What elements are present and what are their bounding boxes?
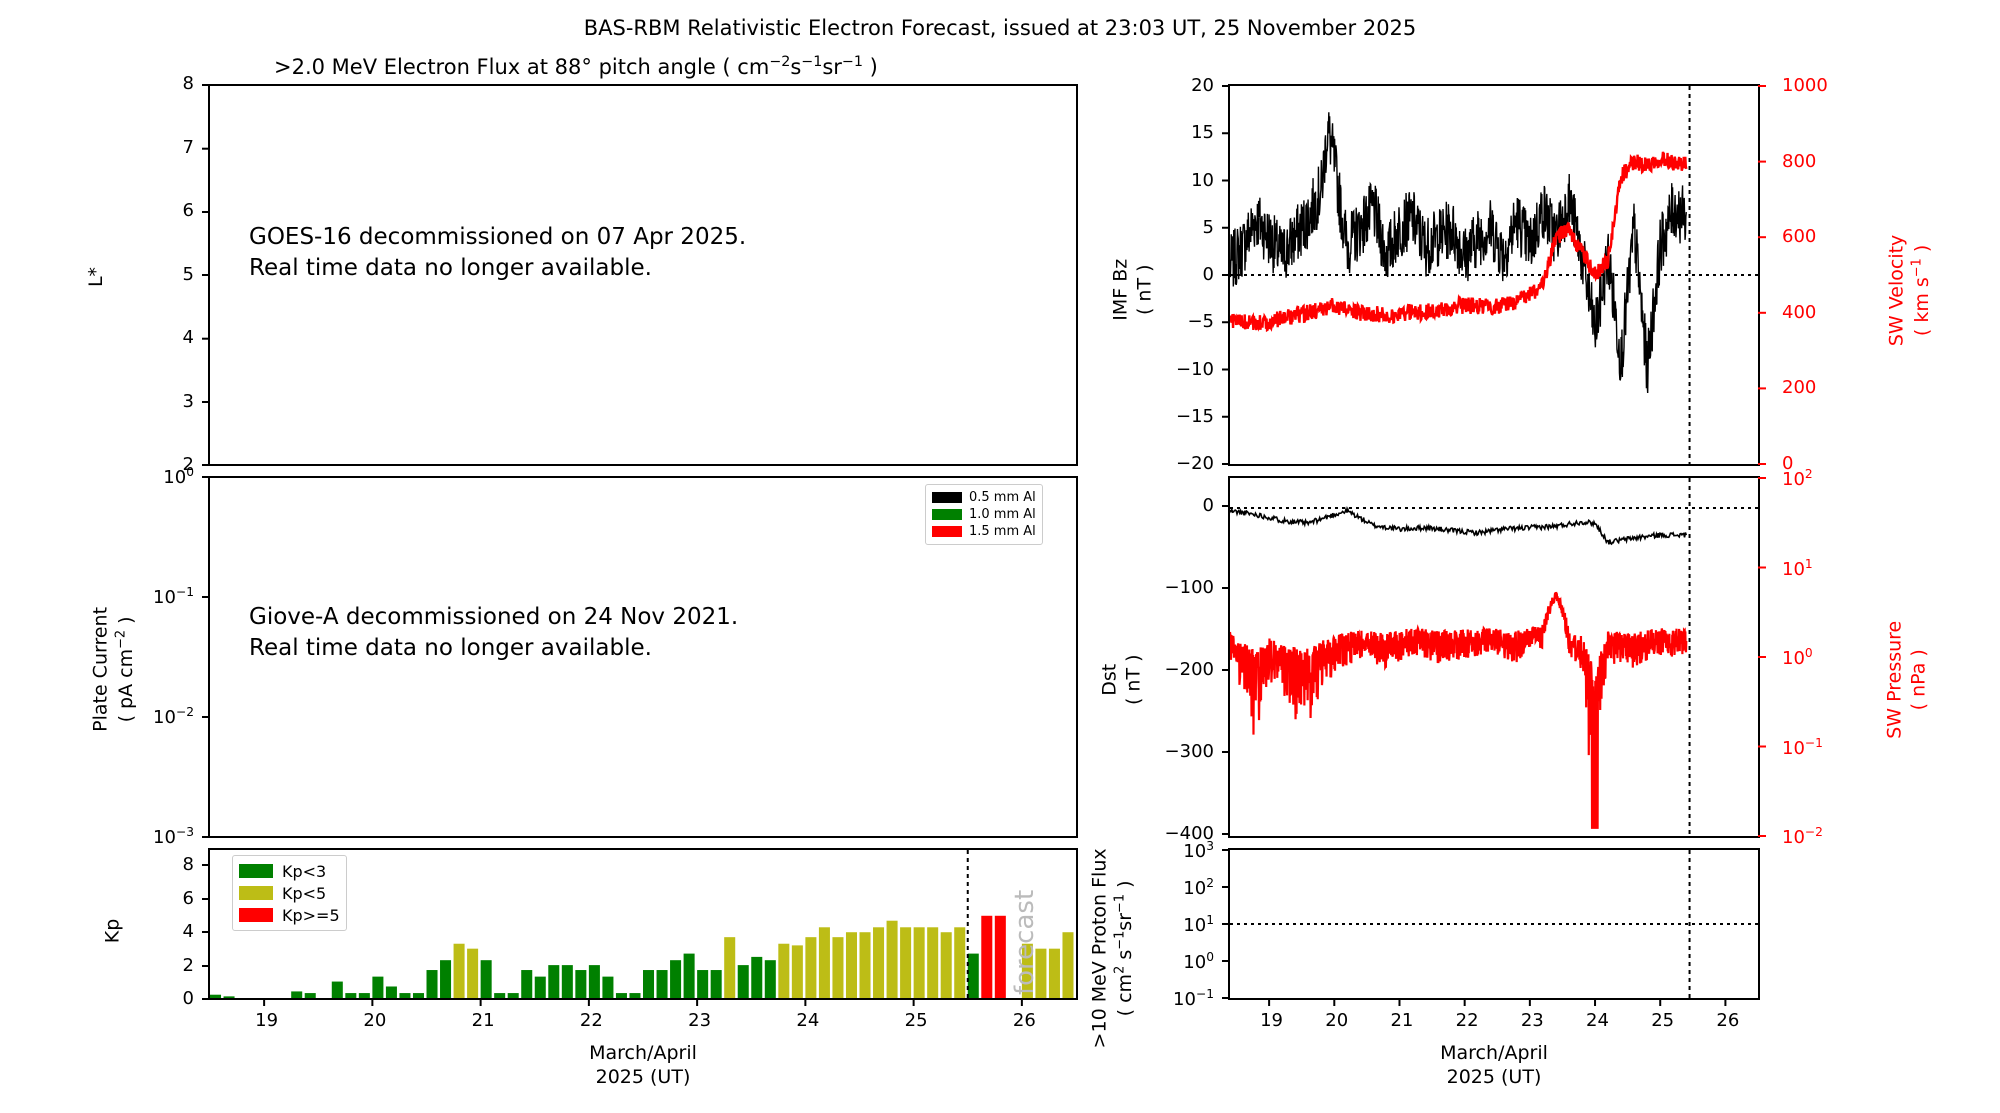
legend-swatch-1_0mm	[932, 509, 962, 520]
ytick: 102	[1183, 876, 1214, 899]
ytick: 10−1	[1782, 736, 1823, 759]
ytick: 0	[183, 988, 194, 1009]
sw-velocity-axis-label: SW Velocity ( km s−1 )	[1886, 170, 1935, 410]
subtitle-exp1: −2	[769, 54, 790, 70]
legend-label: Kp<5	[282, 884, 326, 903]
xtick: 21	[1390, 1010, 1413, 1031]
imf-bz-axis-label-line2: ( nT )	[1133, 185, 1157, 395]
proton-xaxis-label: March/April 2025 (UT)	[1344, 1042, 1644, 1090]
sw-pressure-axis-label: SW Pressure ( nPa )	[1883, 565, 1931, 795]
ytick: 20	[1191, 75, 1214, 96]
ytick: 5	[183, 264, 194, 285]
xtick: 23	[1521, 1010, 1544, 1031]
plate-current-axis-label-line2: ( pA cm−2 )	[113, 549, 138, 789]
ytick: 600	[1782, 226, 1816, 247]
ytick: 2	[183, 955, 194, 976]
ytick: 8	[183, 73, 194, 94]
plate-current-ytick-labels: 100 10−1 10−2 10−3	[130, 476, 202, 838]
ytick: 800	[1782, 151, 1816, 172]
ytick: 0	[1203, 495, 1214, 516]
ytick: −200	[1165, 659, 1214, 680]
ytick: 10−2	[153, 705, 194, 728]
sw-velocity-axis-label-line2: ( km s−1 )	[1909, 170, 1934, 410]
legend-item[interactable]: Kp>=5	[239, 904, 340, 926]
dst-ytick-marks-right	[1758, 476, 1770, 838]
ytick: 100	[1183, 950, 1214, 973]
ytick: 10−1	[1173, 987, 1214, 1010]
ytick: 15	[1191, 122, 1214, 143]
ytick: 10−3	[153, 825, 194, 848]
legend-swatch-0_5mm	[932, 492, 962, 503]
kp-ytick-labels: 8 6 4 2 0	[150, 848, 202, 1000]
xtick: 20	[1325, 1010, 1348, 1031]
xtick: 25	[1651, 1010, 1674, 1031]
xtick: 19	[1260, 1010, 1283, 1031]
ytick: 10	[1191, 170, 1214, 191]
plate-current-legend: 0.5 mm Al 1.0 mm Al 1.5 mm Al	[925, 484, 1043, 545]
legend-item[interactable]: 0.5 mm Al	[932, 489, 1036, 506]
imf-ytick-labels-left: 20151050−5−10−15−20	[1160, 84, 1222, 466]
dst-ytick-labels-left: 0−100−200−300−400	[1148, 476, 1222, 838]
proton-flux-axis-label-line1: >10 MeV Proton Flux	[1089, 783, 1113, 1113]
kp-xaxis-label-line2: 2025 (UT)	[493, 1066, 793, 1090]
kp-xaxis-label: March/April 2025 (UT)	[493, 1042, 793, 1090]
legend-label: Kp>=5	[282, 906, 340, 925]
kp-forecast-watermark: forecast	[1010, 890, 1040, 995]
xtick: 26	[1013, 1010, 1036, 1031]
xtick: 26	[1716, 1010, 1739, 1031]
legend-swatch-kp-lt3	[239, 864, 273, 878]
ytick: 5	[1203, 217, 1214, 238]
proton-ytick-marks	[1218, 848, 1230, 1000]
ytick: 103	[1183, 839, 1214, 862]
lstar-message-line2: Real time data no longer available.	[249, 253, 746, 284]
xtick: 25	[905, 1010, 928, 1031]
lstar-axis-label: L*	[85, 267, 107, 287]
xtick: 23	[688, 1010, 711, 1031]
dst-ytick-labels-right: 10210110010−110−2	[1768, 476, 1834, 838]
lstar-ytick-marks	[198, 84, 210, 466]
page-title: BAS-RBM Relativistic Electron Forecast, …	[0, 16, 2000, 40]
legend-label: 0.5 mm Al	[969, 490, 1036, 505]
subtitle-exp2: −1	[801, 54, 822, 70]
degree-symbol: °	[581, 55, 592, 79]
ytick: 200	[1782, 377, 1816, 398]
kp-axis-label: Kp	[101, 919, 123, 944]
dst-axis-label-line1: Dst	[1098, 580, 1122, 780]
imf-bz-axis-label: IMF Bz ( nT )	[1109, 185, 1157, 395]
ytick: 4	[183, 327, 194, 348]
legend-swatch-kp-ge5	[239, 908, 273, 922]
ytick: −10	[1176, 359, 1214, 380]
xtick: 19	[255, 1010, 278, 1031]
subtitle-exp3: −1	[842, 54, 863, 70]
kp-ytick-marks	[198, 848, 210, 1000]
ytick: 4	[183, 921, 194, 942]
ytick: −5	[1187, 311, 1214, 332]
lstar-ytick-labels: 8 7 6 5 4 3 2	[150, 84, 202, 466]
ytick: 10−2	[1782, 825, 1823, 848]
dst-axis-label: Dst ( nT )	[1098, 580, 1146, 780]
ytick: 400	[1782, 302, 1816, 323]
legend-swatch-1_5mm	[932, 526, 962, 537]
ytick: 0	[1203, 264, 1214, 285]
xtick: 21	[472, 1010, 495, 1031]
lstar-message: GOES-16 decommissioned on 07 Apr 2025. R…	[249, 222, 746, 284]
proton-xaxis-label-line1: March/April	[1344, 1042, 1644, 1066]
ytick: 101	[1782, 557, 1813, 580]
xtick: 22	[580, 1010, 603, 1031]
xtick: 24	[1586, 1010, 1609, 1031]
plate-current-message-line2: Real time data no longer available.	[249, 633, 738, 664]
ytick: 8	[183, 854, 194, 875]
legend-label: 1.5 mm Al	[969, 524, 1036, 539]
ytick: 101	[1183, 913, 1214, 936]
xtick: 22	[1456, 1010, 1479, 1031]
dst-plot	[1230, 478, 1758, 836]
imf-ytick-marks-right	[1758, 84, 1770, 466]
ytick: 6	[183, 888, 194, 909]
kp-xtick-labels: 1920212223242526	[208, 1010, 1078, 1034]
ytick: 102	[1782, 467, 1813, 490]
legend-item[interactable]: 1.5 mm Al	[932, 523, 1036, 540]
proton-flux-axis-label: >10 MeV Proton Flux ( cm2 s−1sr−1 )	[1089, 783, 1138, 1113]
dst-ytick-marks-left	[1218, 476, 1230, 838]
xtick: 24	[796, 1010, 819, 1031]
imf-ytick-labels-right: 10008006004002000	[1768, 84, 1834, 466]
ytick: 3	[183, 391, 194, 412]
electron-flux-subtitle: >2.0 MeV Electron Flux at 88° pitch angl…	[274, 54, 878, 79]
legend-label: Kp<3	[282, 862, 326, 881]
sw-velocity-axis-label-line1: SW Velocity	[1886, 170, 1910, 410]
legend-label: 1.0 mm Al	[969, 507, 1036, 522]
legend-swatch-kp-lt5	[239, 886, 273, 900]
plate-current-axis-label: Plate Current ( pA cm−2 )	[90, 549, 139, 789]
ytick: −15	[1176, 406, 1214, 427]
ytick: 10−1	[153, 585, 194, 608]
subtitle-mid: pitch angle ( cm	[592, 55, 769, 79]
xtick: 20	[363, 1010, 386, 1031]
kp-legend: Kp<3 Kp<5 Kp>=5	[232, 855, 347, 931]
sw-pressure-axis-label-line2: ( nPa )	[1907, 565, 1931, 795]
ytick: 100	[1782, 646, 1813, 669]
legend-item[interactable]: Kp<3	[239, 860, 340, 882]
plate-current-axis-label-line1: Plate Current	[90, 549, 114, 789]
imf-ytick-marks-left	[1218, 84, 1230, 466]
ytick: −20	[1176, 453, 1214, 474]
proton-xtick-marks	[1228, 998, 1760, 1010]
ytick: 7	[183, 137, 194, 158]
proton-ytick-labels: 10310210110010−1	[1148, 848, 1222, 1000]
lstar-message-line1: GOES-16 decommissioned on 07 Apr 2025.	[249, 222, 746, 253]
proton-flux-plot	[1230, 850, 1758, 998]
proton-flux-axis-label-line2: ( cm2 s−1sr−1 )	[1112, 783, 1137, 1113]
proton-xaxis-label-line2: 2025 (UT)	[1344, 1066, 1644, 1090]
ytick: −100	[1165, 577, 1214, 598]
subtitle-unit3: sr	[822, 55, 842, 79]
sw-pressure-axis-label-line1: SW Pressure	[1883, 565, 1907, 795]
ytick: 6	[183, 200, 194, 221]
legend-item[interactable]: Kp<5	[239, 882, 340, 904]
plate-current-ytick-marks	[198, 476, 210, 838]
dst-axis-label-line2: ( nT )	[1122, 580, 1146, 780]
imf-bz-axis-label-line1: IMF Bz	[1109, 185, 1133, 395]
ytick: −300	[1165, 741, 1214, 762]
ytick: 100	[163, 465, 194, 488]
legend-item[interactable]: 1.0 mm Al	[932, 506, 1036, 523]
ytick: 1000	[1782, 75, 1828, 96]
subtitle-suffix: )	[863, 55, 878, 79]
subtitle-prefix: >2.0 MeV Electron Flux at 88	[274, 55, 581, 79]
proton-xtick-labels: 1920212223242526	[1228, 1010, 1760, 1034]
kp-xtick-marks	[208, 998, 1078, 1010]
plate-current-message: Giove-A decommissioned on 24 Nov 2021. R…	[249, 602, 738, 664]
imf-bz-plot	[1230, 86, 1758, 464]
subtitle-unit2: s	[790, 55, 801, 79]
plate-current-message-line1: Giove-A decommissioned on 24 Nov 2021.	[249, 602, 738, 633]
kp-xaxis-label-line1: March/April	[493, 1042, 793, 1066]
